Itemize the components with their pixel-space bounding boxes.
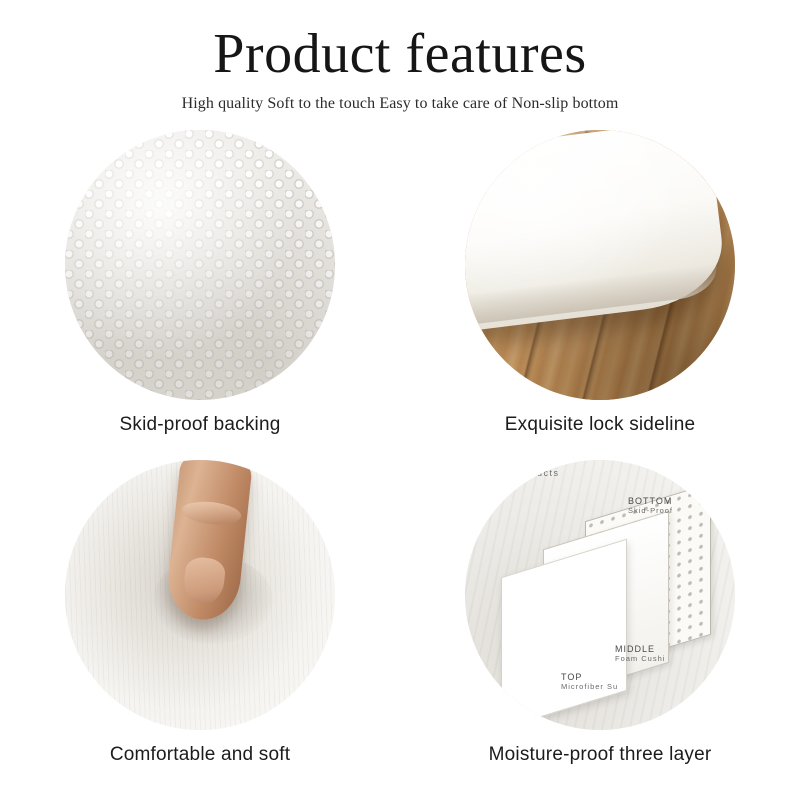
comfortable-and-soft-image — [65, 460, 335, 730]
feature-image-wrap — [65, 460, 335, 730]
layer-top-desc: Microfiber Su — [561, 682, 618, 691]
exquisite-lock-sideline-image — [465, 130, 735, 400]
skid-proof-backing-image — [65, 130, 335, 400]
feature-caption: Comfortable and soft — [110, 744, 290, 766]
feature-card-comfortable-and-soft: Comfortable and soft — [0, 460, 400, 790]
layer-bottom-name: BOTTOM — [628, 496, 673, 506]
features-grid: Skid-proof backing Exquisite lock sideli… — [0, 130, 800, 790]
feature-card-exquisite-lock-sideline: Exquisite lock sideline — [400, 130, 800, 460]
feature-card-moisture-proof-three-layer: products BOTTOM Skid-Proof MIDDLE Foam C… — [400, 460, 800, 790]
layer-bottom-label: BOTTOM Skid-Proof — [628, 496, 673, 515]
feature-card-skid-proof-backing: Skid-proof backing — [0, 130, 400, 460]
page-title: Product features — [0, 22, 800, 86]
feature-image-wrap — [65, 130, 335, 400]
layer-middle-label: MIDDLE Foam Cushi — [615, 644, 665, 663]
product-features-page: Product features High quality Soft to th… — [0, 0, 800, 800]
mesh-shading — [65, 130, 335, 400]
feature-image-wrap: products BOTTOM Skid-Proof MIDDLE Foam C… — [465, 460, 735, 730]
moisture-proof-three-layer-image: products BOTTOM Skid-Proof MIDDLE Foam C… — [465, 460, 735, 730]
feature-image-wrap — [465, 130, 735, 400]
fingertip — [182, 556, 227, 606]
feature-caption: Exquisite lock sideline — [505, 414, 695, 436]
layer-bottom-desc: Skid-Proof — [628, 506, 673, 515]
feature-caption: Moisture-proof three layer — [489, 744, 712, 766]
page-subtitle: High quality Soft to the touch Easy to t… — [0, 94, 800, 114]
header: Product features High quality Soft to th… — [0, 0, 800, 114]
layer-middle-desc: Foam Cushi — [615, 654, 665, 663]
layer-top-label: TOP Microfiber Su — [561, 672, 618, 691]
layer-top-name: TOP — [561, 672, 618, 682]
diagram-heading: products — [513, 468, 560, 478]
layer-middle-name: MIDDLE — [615, 644, 665, 654]
knuckle-crease — [180, 499, 242, 527]
feature-caption: Skid-proof backing — [120, 414, 281, 436]
